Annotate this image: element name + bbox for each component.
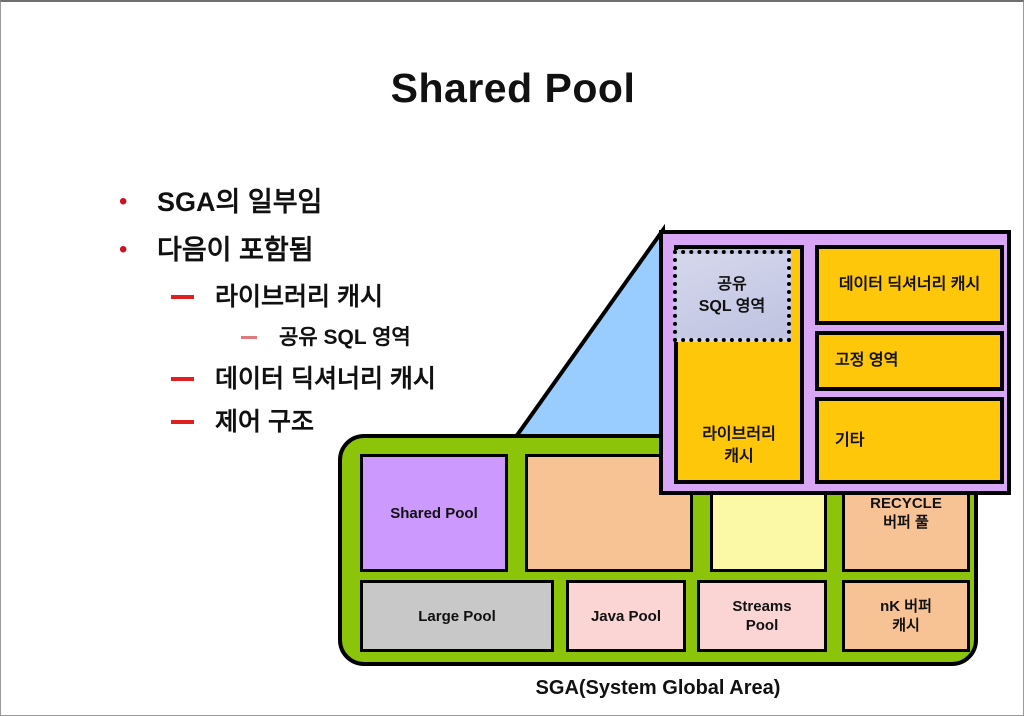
sga-cell-label: Shared Pool xyxy=(390,504,478,523)
detail-cell-other[interactable]: 기타 xyxy=(815,397,1004,484)
detail-cell-label-line1: 라이브러리 xyxy=(702,426,776,443)
sga-cell-label: nK 버퍼 xyxy=(880,597,932,616)
sga-cell-label: Streams xyxy=(732,597,791,616)
slide-canvas: Shared Pool • SGA의 일부임 • 다음이 포함됨 라이브러리 캐… xyxy=(0,0,1024,716)
sga-cell-java-pool[interactable]: Java Pool xyxy=(566,580,686,652)
sga-cell-nk-buffer-cache[interactable]: nK 버퍼 캐시 xyxy=(842,580,970,652)
detail-cell-shared-sql-area[interactable]: 공유 SQL 영역 xyxy=(673,250,791,342)
sga-caption: SGA(System Global Area) xyxy=(338,677,978,700)
sga-cell-label: RECYCLE xyxy=(870,494,942,513)
sga-cell-large-pool[interactable]: Large Pool xyxy=(360,580,554,652)
detail-cell-label-line2: SQL 영역 xyxy=(699,298,766,315)
sga-cell-label: Large Pool xyxy=(418,607,496,626)
detail-cell-label: 공유 SQL 영역 xyxy=(699,274,766,318)
sga-cell-label: Java Pool xyxy=(591,607,661,626)
detail-cell-label: 라이브러리 캐시 xyxy=(702,424,776,468)
sga-cell-label: 캐시 xyxy=(892,616,920,635)
sga-cell-shared-pool[interactable]: Shared Pool xyxy=(360,454,508,572)
sga-cell-label: 버퍼 풀 xyxy=(883,513,929,532)
detail-cell-label-line2: 캐시 xyxy=(724,448,753,465)
detail-cell-label-line1: 공유 xyxy=(717,276,746,293)
detail-cell-label: 고정 영역 xyxy=(835,350,898,372)
detail-cell-label: 데이터 딕셔너리 캐시 xyxy=(839,274,980,296)
detail-cell-label: 기타 xyxy=(835,430,864,452)
detail-cell-data-dictionary-cache[interactable]: 데이터 딕셔너리 캐시 xyxy=(815,245,1004,325)
detail-cell-fixed-area[interactable]: 고정 영역 xyxy=(815,331,1004,391)
sga-cell-streams-pool[interactable]: Streams Pool xyxy=(697,580,827,652)
sga-cell-label: Pool xyxy=(746,616,779,635)
